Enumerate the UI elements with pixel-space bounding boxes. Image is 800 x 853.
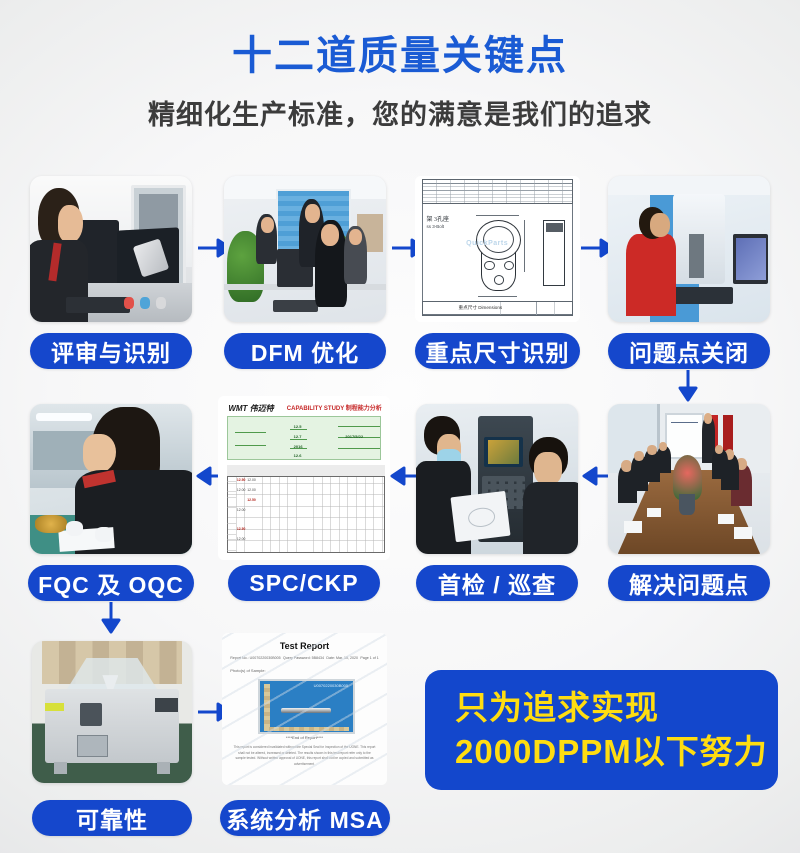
step-label-1[interactable]: 评审与识别 (30, 333, 192, 369)
cad-part-label: 架 3孔座 (427, 214, 450, 223)
step-label-4[interactable]: 问题点关闭 (608, 333, 770, 369)
capability-brand: WMT 伟迈特 (228, 403, 273, 414)
capability-value-2: 12.7 (294, 434, 302, 439)
report-end-marker: ****End of Report**** (222, 735, 387, 740)
slogan-panel: 只为追求实现 2000DPPM以下努力 (425, 670, 778, 790)
step-label-9[interactable]: 可靠性 (32, 800, 192, 836)
photo-cmm-operator (608, 176, 770, 322)
photo-test-report: Test Report Report No.: U0070220030B005 … (222, 633, 387, 785)
page-subtitle: 精细化生产标准，您的满意是我们的追求 (0, 93, 800, 132)
photo-first-article-inspection (416, 404, 578, 554)
capability-value-3: 2016 (294, 444, 303, 449)
step-label-7[interactable]: 首检 / 巡查 (416, 565, 578, 601)
infographic-page: 十二道质量关键点 精细化生产标准，您的满意是我们的追求 评审与识别 (0, 0, 800, 853)
step-label-10[interactable]: 系统分析 MSA (220, 800, 390, 836)
photo-cad-drawing: 架 3孔座 ss 3-Bolt QuickParts 重点尺寸 Dimensio… (415, 176, 580, 322)
step-label-5[interactable]: FQC 及 OQC (28, 565, 194, 601)
step-label-6[interactable]: SPC/CKP (228, 565, 380, 601)
capability-title: CAPABILITY STUDY 制程能力分析 (287, 403, 382, 412)
photo-salt-spray-chamber (32, 641, 192, 783)
report-page: Page 1 of 1 (360, 656, 378, 660)
report-no: Report No.: U0070220030B005 (230, 656, 280, 660)
page-header: 十二道质量关键点 精细化生产标准，您的满意是我们的追求 (0, 34, 800, 132)
photo-fqc-oqc-inspection (30, 404, 192, 554)
report-section: Photo(s) of Sample: (230, 668, 265, 673)
step-label-3[interactable]: 重点尺寸识别 (415, 333, 580, 369)
report-date: Date: Mar. 10, 2020 (326, 656, 358, 660)
photo-review-identify (30, 176, 192, 322)
slogan-line-1: 只为追求实现 (455, 686, 778, 730)
report-title: Test Report (222, 641, 387, 651)
photo-problem-solving-meeting (608, 404, 770, 554)
step-label-8[interactable]: 解决问题点 (608, 565, 770, 601)
cad-sub-label: ss 3-Bolt (427, 224, 445, 229)
cad-watermark: QuickParts (466, 240, 508, 247)
page-title: 十二道质量关键点 (0, 34, 800, 78)
report-query: Query Password: 5B8434 (283, 656, 324, 660)
report-sample-id: U0070220030B005 (314, 683, 348, 688)
photo-dfm-review (224, 176, 386, 322)
arrow-step5-to-step9 (99, 600, 123, 634)
cad-title-block: 重点尺寸 Dimensions (459, 305, 503, 311)
capability-value-1: 12.5 (294, 424, 302, 429)
arrow-step4-to-step8 (676, 368, 700, 402)
slogan-line-2: 2000DPPM以下努力 (455, 730, 778, 774)
report-footer: This report is considered invalidated wi… (234, 745, 376, 767)
photo-capability-study: WMT 伟迈特 CAPABILITY STUDY 制程能力分析 12.5 12.… (218, 396, 390, 560)
capability-date: 2017/5/22 (345, 434, 363, 439)
capability-value-4: 12.6 (294, 453, 302, 458)
step-label-2[interactable]: DFM 优化 (224, 333, 386, 369)
